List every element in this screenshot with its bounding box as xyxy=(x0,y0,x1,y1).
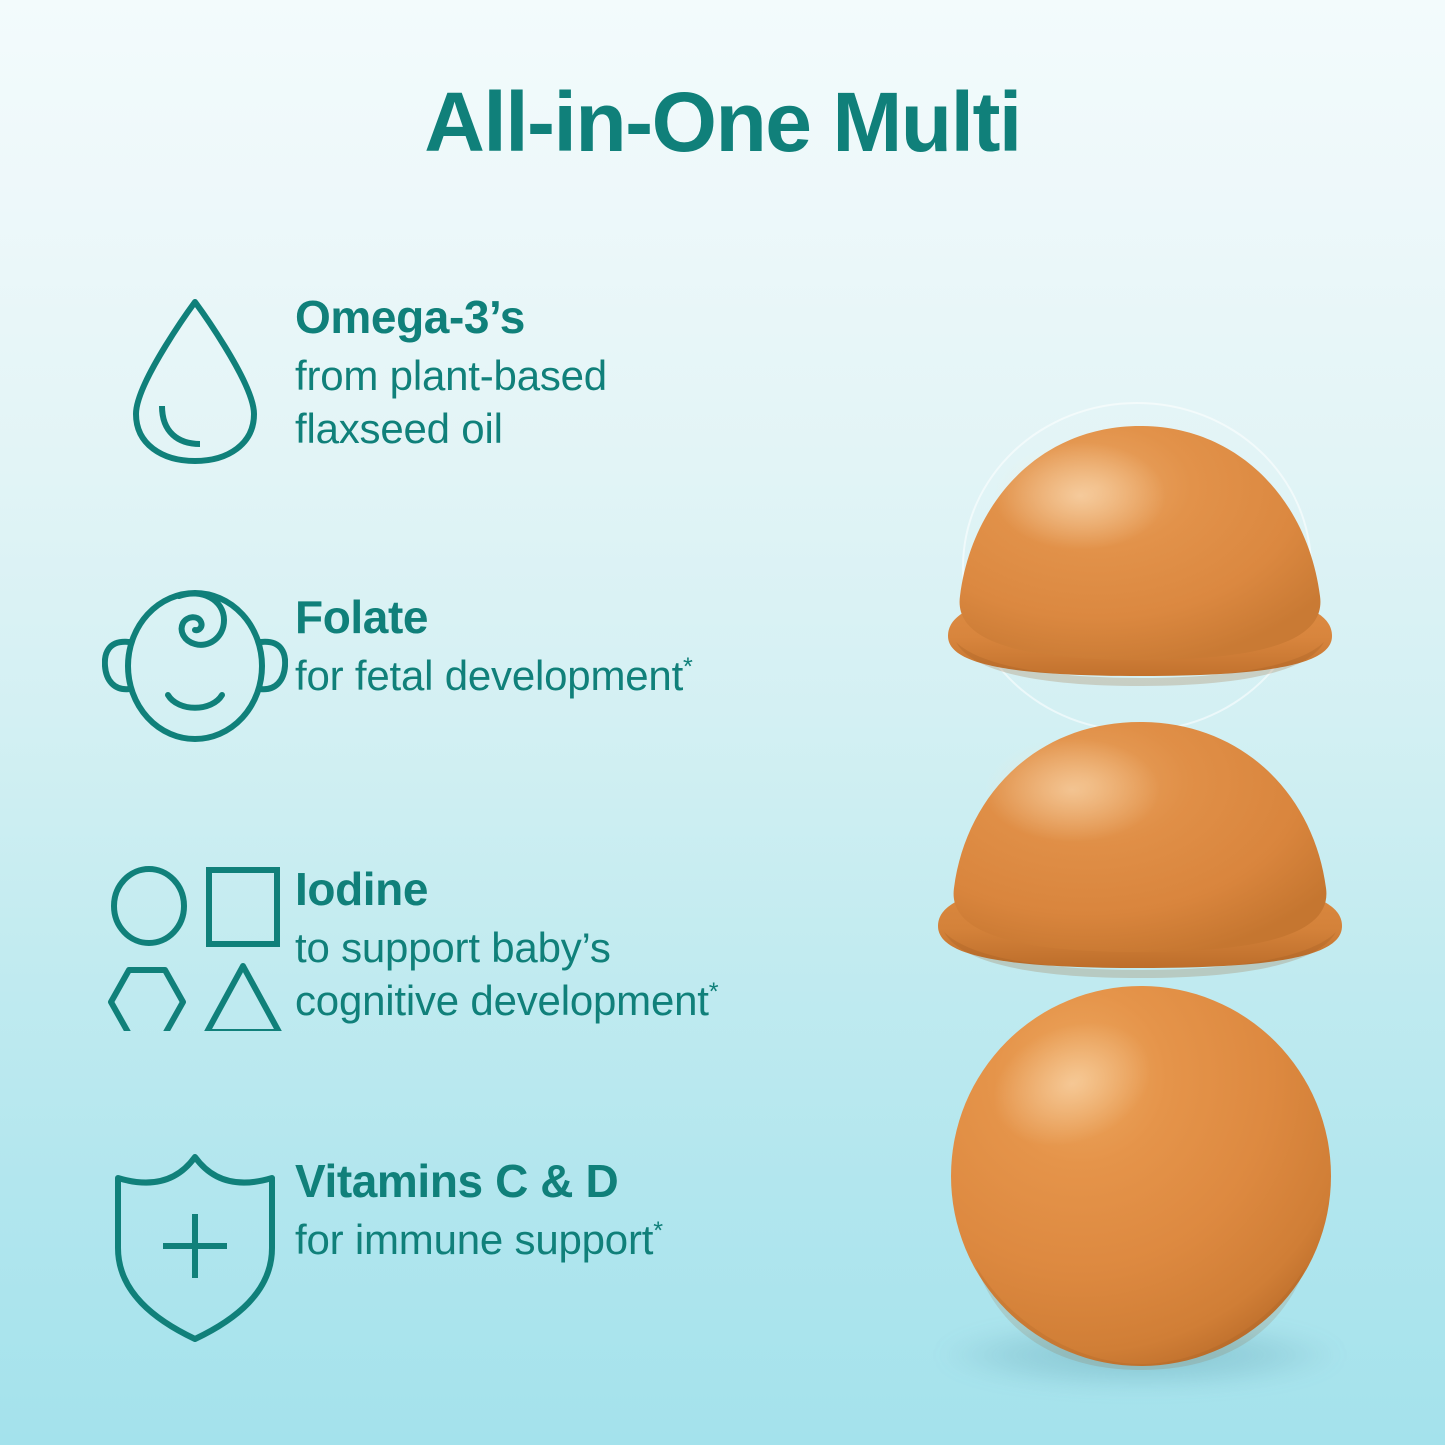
feature-row-vitamins-c-d: Vitamins C & D for immune support* xyxy=(95,1152,915,1344)
gummy-dome-middle xyxy=(930,708,1350,1018)
feature-icon-wrapper xyxy=(95,588,295,742)
hexagon-shape-icon xyxy=(111,970,183,1031)
feature-description-line: to support baby’s xyxy=(295,922,915,975)
footnote-asterisk: * xyxy=(709,978,719,1006)
feature-description: for fetal development* xyxy=(295,650,915,703)
feature-description-text: for immune support xyxy=(295,1216,653,1263)
feature-description-line: from plant-based xyxy=(295,350,915,403)
feature-description-line: for immune support* xyxy=(295,1214,915,1267)
feature-title: Vitamins C & D xyxy=(295,1154,915,1208)
feature-title: Folate xyxy=(295,590,915,644)
square-shape-icon xyxy=(209,870,277,944)
feature-icon-wrapper xyxy=(95,288,295,469)
feature-description-line: cognitive development* xyxy=(295,975,915,1028)
feature-title: Iodine xyxy=(295,862,915,916)
feature-row-iodine: Iodine to support baby’s cognitive devel… xyxy=(95,860,915,1031)
feature-text-wrapper: Omega-3’s from plant-based flaxseed oil xyxy=(295,288,915,456)
gummy-stack-image xyxy=(900,390,1380,1380)
plus-icon xyxy=(163,1214,227,1278)
feature-text-wrapper: Vitamins C & D for immune support* xyxy=(295,1152,915,1267)
footnote-asterisk: * xyxy=(653,1217,663,1245)
circle-shape-icon xyxy=(114,869,184,943)
gummy-sphere-bottom xyxy=(946,980,1336,1370)
feature-icon-wrapper xyxy=(95,1152,295,1344)
feature-icon-wrapper xyxy=(95,860,295,1031)
feature-description-text: for fetal development xyxy=(295,652,683,699)
feature-description-line: flaxseed oil xyxy=(295,403,915,456)
feature-description: to support baby’s cognitive development* xyxy=(295,922,915,1028)
geometric-shapes-icon xyxy=(107,866,283,1031)
feature-row-folate: Folate for fetal development* xyxy=(95,588,915,742)
gummy-dome-top xyxy=(940,410,1340,730)
shield-plus-icon xyxy=(113,1152,278,1344)
feature-description: from plant-based flaxseed oil xyxy=(295,350,915,456)
product-feature-card: All-in-One Multi Omega-3’s from plant-ba… xyxy=(0,0,1445,1445)
feature-text-wrapper: Iodine to support baby’s cognitive devel… xyxy=(295,860,915,1028)
feature-title: Omega-3’s xyxy=(295,290,915,344)
feature-description: for immune support* xyxy=(295,1214,915,1267)
feature-text-wrapper: Folate for fetal development* xyxy=(295,588,915,703)
water-droplet-icon xyxy=(120,294,270,469)
feature-description-text: cognitive development xyxy=(295,977,709,1024)
feature-description-line: for fetal development* xyxy=(295,650,915,703)
triangle-shape-icon xyxy=(207,966,279,1031)
feature-row-omega-3: Omega-3’s from plant-based flaxseed oil xyxy=(95,288,915,469)
baby-face-icon xyxy=(102,590,288,742)
page-title: All-in-One Multi xyxy=(0,78,1445,166)
footnote-asterisk: * xyxy=(683,653,693,681)
